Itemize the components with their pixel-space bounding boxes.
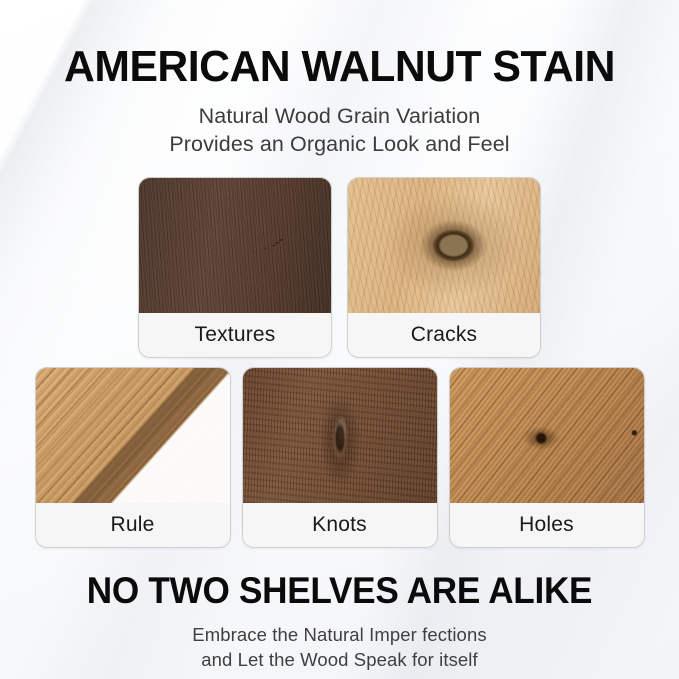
- wood-photo-rule: [36, 368, 230, 503]
- headline-block: AMERICAN WALNUT STAIN Natural Wood Grain…: [0, 0, 679, 158]
- feature-card-rule: Rule: [35, 367, 231, 548]
- wood-photo-knots: [243, 368, 437, 503]
- subtitle-line-2: Provides an Organic Look and Feel: [0, 131, 679, 159]
- card-label-knots: Knots: [243, 503, 437, 547]
- page-title: AMERICAN WALNUT STAIN: [10, 45, 669, 89]
- feature-card-cracks: Cracks: [347, 177, 541, 358]
- wood-photo-holes: [450, 368, 644, 503]
- footer-block: NO TWO SHELVES ARE ALIKE Embrace the Nat…: [0, 572, 679, 672]
- feature-card-holes: Holes: [449, 367, 645, 548]
- wood-photo-textures: [139, 178, 331, 313]
- wood-photo-cracks: [348, 178, 540, 313]
- card-label-textures: Textures: [139, 313, 331, 357]
- footer-sub-line-1: Embrace the Natural Imper fections: [0, 623, 679, 648]
- feature-card-row-top: Textures Cracks: [0, 177, 679, 358]
- footer-title: NO TWO SHELVES ARE ALIKE: [17, 572, 662, 609]
- card-label-rule: Rule: [36, 503, 230, 547]
- footer-sub-line-2: and Let the Wood Speak for itself: [0, 648, 679, 673]
- feature-card-row-bottom: Rule Knots Holes: [0, 367, 679, 548]
- page-subtitle: Natural Wood Grain Variation Provides an…: [0, 103, 679, 158]
- subtitle-line-1: Natural Wood Grain Variation: [0, 103, 679, 131]
- card-label-cracks: Cracks: [348, 313, 540, 357]
- feature-card-textures: Textures: [138, 177, 332, 358]
- card-label-holes: Holes: [450, 503, 644, 547]
- feature-card-knots: Knots: [242, 367, 438, 548]
- product-infographic: AMERICAN WALNUT STAIN Natural Wood Grain…: [0, 0, 679, 679]
- footer-subtitle: Embrace the Natural Imper fections and L…: [0, 623, 679, 672]
